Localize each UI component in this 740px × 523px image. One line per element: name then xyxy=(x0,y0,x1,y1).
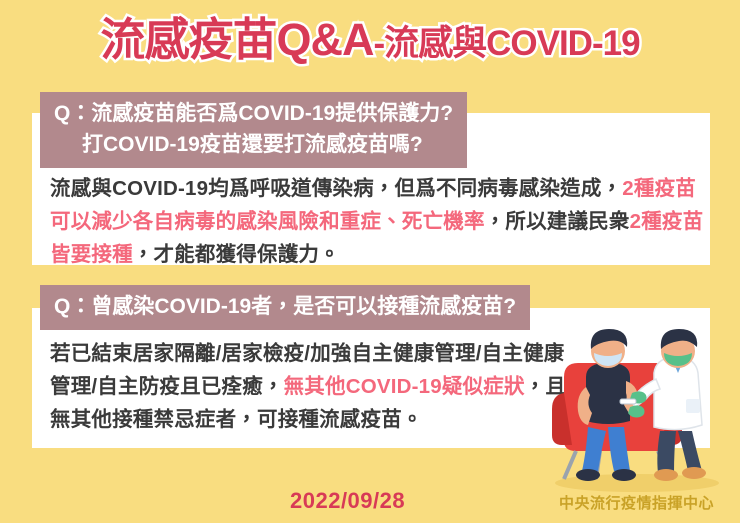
answer-1-run-1: 流感與COVID-19均爲呼吸道傳染病，但爲不同病毒感染造成， xyxy=(50,177,622,200)
vaccination-illustration xyxy=(542,315,732,495)
question-bar-2-line-1: Q：曾感染COVID-19者，是否可以接種流感疫苗? xyxy=(54,295,516,318)
question-bar-1: Q：流感疫苗能否爲COVID-19提供保護力? 打COVID-19疫苗還要打流感… xyxy=(40,92,467,168)
doctor-coat-pocket xyxy=(686,399,700,413)
answer-text-2: 若已結束居家隔離/居家檢疫/加強自主健康管理/自主健康管理/自主防疫且已痊癒，無… xyxy=(50,337,580,436)
chair-leg-1 xyxy=(564,451,576,479)
page-title-main: 流感疫苗Q&A xyxy=(100,14,373,65)
question-bar-2: Q：曾感染COVID-19者，是否可以接種流感疫苗? xyxy=(40,285,530,330)
answer-1-run-3: ，所以建議民衆 xyxy=(485,210,630,233)
page-title: 流感疫苗Q&A-流感與COVID-19 xyxy=(0,12,740,72)
syringe xyxy=(620,399,636,404)
question-bar-1-line-1: Q：流感疫苗能否爲COVID-19提供保護力? xyxy=(54,102,453,125)
patient-shoe-left xyxy=(576,469,600,481)
answer-1-run-5: ，才能都獲得保護力。 xyxy=(133,243,340,266)
footer-organization: 中央流行疫情指揮中心 xyxy=(559,492,714,513)
footer-date: 2022/09/28 xyxy=(290,488,405,514)
patient-torso xyxy=(586,363,630,424)
doctor-leg-left xyxy=(657,431,676,473)
poster-root: 流感疫苗Q&A-流感與COVID-19 Q：流感疫苗能否爲COVID-19提供保… xyxy=(0,0,740,523)
doctor-leg-right xyxy=(678,431,702,471)
page-title-sub: -流感與COVID-19 xyxy=(373,24,639,63)
doctor-shoe-left xyxy=(654,469,678,481)
answer-text-1: 流感與COVID-19均爲呼吸道傳染病，但爲不同病毒感染造成，2種疫苗可以減少各… xyxy=(50,172,705,271)
patient-shoe-right xyxy=(612,469,636,481)
question-bar-1-line-2: 打COVID-19疫苗還要打流感疫苗嗎? xyxy=(54,129,453,160)
answer-2-run-2: 無其他COVID-19疑似症狀 xyxy=(284,375,525,398)
doctor-shoe-right xyxy=(682,467,706,479)
